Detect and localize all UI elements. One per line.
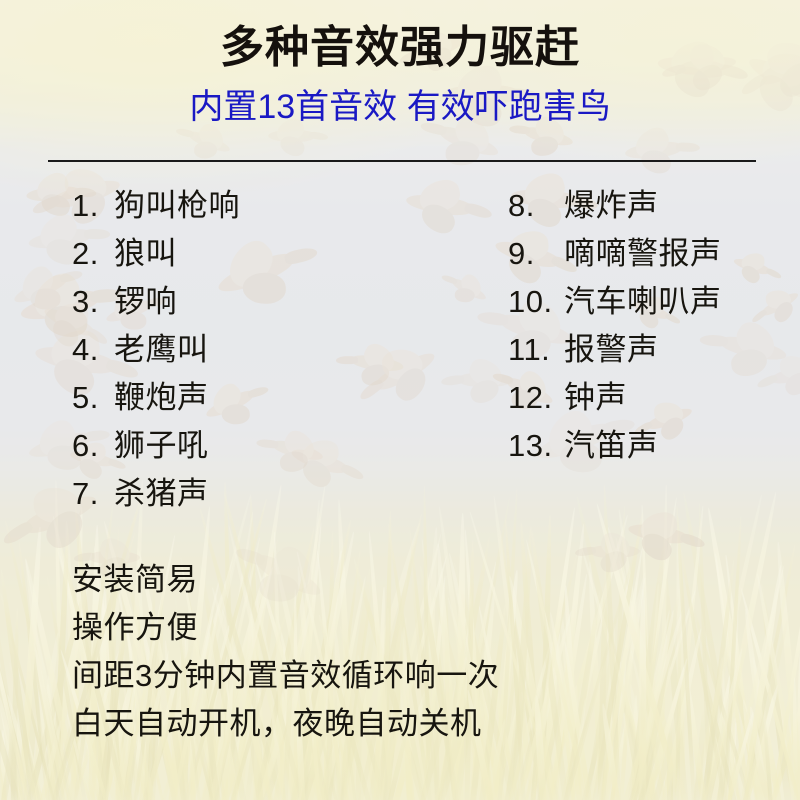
sound-item-label: 杀猪声 [114, 476, 209, 511]
sound-item-label: 狗叫枪响 [114, 188, 240, 223]
sound-item-number: 1. [72, 182, 114, 230]
sound-item-number: 12. [508, 374, 564, 422]
sound-item-label: 老鹰叫 [114, 332, 209, 367]
sound-item: 4.老鹰叫 [72, 326, 240, 374]
sound-item-label: 钟声 [564, 380, 627, 415]
sound-item: 9.嘀嘀警报声 [508, 230, 722, 278]
sound-item-label: 狼叫 [114, 236, 177, 271]
sound-item: 5.鞭炮声 [72, 374, 240, 422]
sound-item: 8.爆炸声 [508, 182, 722, 230]
sound-list-right-column: 8.爆炸声9.嘀嘀警报声10.汽车喇叭声11.报警声12.钟声13.汽笛声 [508, 182, 722, 470]
sound-effects-list: 1.狗叫枪响2.狼叫3.锣响4.老鹰叫5.鞭炮声6.狮子吼7.杀猪声 8.爆炸声… [0, 182, 800, 512]
sound-item-number: 13. [508, 422, 564, 470]
poster-headline: 多种音效强力驱赶 [0, 22, 800, 74]
sound-item-label: 嘀嘀警报声 [564, 236, 722, 271]
sound-item-number: 11. [508, 326, 564, 374]
sound-item: 13.汽笛声 [508, 422, 722, 470]
sound-item: 11.报警声 [508, 326, 722, 374]
feature-line: 白天自动开机，夜晚自动关机 [72, 700, 772, 748]
feature-line: 操作方便 [72, 604, 772, 652]
poster-subheadline: 内置13首音效 有效吓跑害鸟 [0, 86, 800, 128]
sound-item-number: 2. [72, 230, 114, 278]
sound-item-label: 汽车喇叭声 [564, 284, 722, 319]
sound-item-number: 10. [508, 278, 564, 326]
sound-item-label: 锣响 [114, 284, 177, 319]
sound-item-label: 报警声 [564, 332, 659, 367]
sound-item: 6.狮子吼 [72, 422, 240, 470]
sound-item-label: 汽笛声 [564, 428, 659, 463]
poster-content: 多种音效强力驱赶 内置13首音效 有效吓跑害鸟 1.狗叫枪响2.狼叫3.锣响4.… [0, 0, 800, 800]
sound-item-label: 鞭炮声 [114, 380, 209, 415]
sound-item: 7.杀猪声 [72, 470, 240, 518]
feature-line: 安装简易 [72, 556, 772, 604]
feature-list: 安装简易操作方便间距3分钟内置音效循环响一次白天自动开机，夜晚自动关机 [72, 556, 772, 748]
sound-item-number: 6. [72, 422, 114, 470]
sound-item: 3.锣响 [72, 278, 240, 326]
sound-item-number: 4. [72, 326, 114, 374]
sound-item-label: 狮子吼 [114, 428, 209, 463]
sound-item: 10.汽车喇叭声 [508, 278, 722, 326]
sound-item: 12.钟声 [508, 374, 722, 422]
sound-item-number: 8. [508, 182, 564, 230]
sound-item: 2.狼叫 [72, 230, 240, 278]
header-divider [48, 160, 756, 162]
sound-item-number: 3. [72, 278, 114, 326]
sound-item-number: 5. [72, 374, 114, 422]
sound-list-left-column: 1.狗叫枪响2.狼叫3.锣响4.老鹰叫5.鞭炮声6.狮子吼7.杀猪声 [72, 182, 240, 518]
product-poster: 多种音效强力驱赶 内置13首音效 有效吓跑害鸟 1.狗叫枪响2.狼叫3.锣响4.… [0, 0, 800, 800]
sound-item-label: 爆炸声 [564, 188, 659, 223]
sound-item: 1.狗叫枪响 [72, 182, 240, 230]
feature-line: 间距3分钟内置音效循环响一次 [72, 652, 772, 700]
sound-item-number: 7. [72, 470, 114, 518]
sound-item-number: 9. [508, 230, 564, 278]
